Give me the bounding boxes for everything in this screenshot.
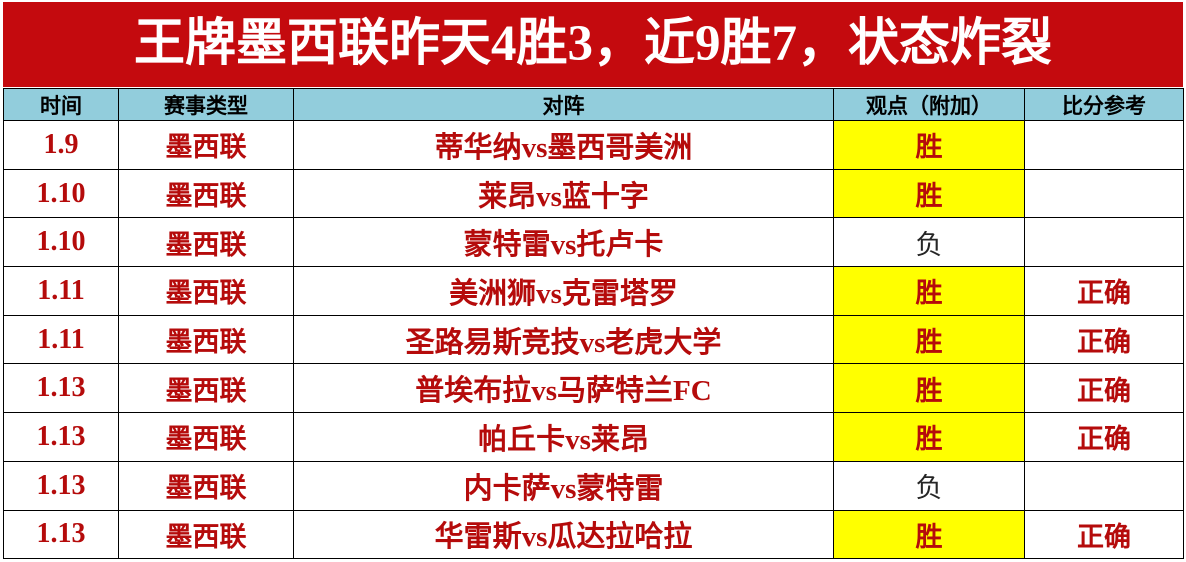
table-header-row: 时间 赛事类型 对阵 观点（附加） 比分参考 xyxy=(4,89,1184,121)
cell-league: 墨西联 xyxy=(119,413,294,462)
cell-league: 墨西联 xyxy=(119,461,294,510)
table-row: 1.9墨西联蒂华纳vs墨西哥美洲胜 xyxy=(4,121,1184,170)
cell-league: 墨西联 xyxy=(119,169,294,218)
cell-score: 正确 xyxy=(1025,315,1184,364)
column-header-league: 赛事类型 xyxy=(119,89,294,121)
cell-view: 胜 xyxy=(834,315,1025,364)
cell-view: 胜 xyxy=(834,267,1025,316)
cell-view: 胜 xyxy=(834,510,1025,559)
column-header-match: 对阵 xyxy=(294,89,834,121)
table-body: 1.9墨西联蒂华纳vs墨西哥美洲胜1.10墨西联莱昂vs蓝十字胜1.10墨西联蒙… xyxy=(4,121,1184,559)
cell-league: 墨西联 xyxy=(119,510,294,559)
banner-title: 王牌墨西联昨天4胜3，近9胜7，状态炸裂 xyxy=(134,19,1052,70)
cell-match: 内卡萨vs蒙特雷 xyxy=(294,461,834,510)
cell-match: 美洲狮vs克雷塔罗 xyxy=(294,267,834,316)
table-row: 1.10墨西联蒙特雷vs托卢卡负 xyxy=(4,218,1184,267)
cell-league: 墨西联 xyxy=(119,315,294,364)
column-header-score: 比分参考 xyxy=(1025,89,1184,121)
cell-time: 1.11 xyxy=(4,267,119,316)
cell-score: 正确 xyxy=(1025,364,1184,413)
table-row: 1.11墨西联圣路易斯竞技vs老虎大学胜正确 xyxy=(4,315,1184,364)
prediction-sheet-page: 王牌墨西联昨天4胜3，近9胜7，状态炸裂 时间 赛事类型 对阵 观点（附加） 比… xyxy=(0,0,1186,562)
cell-view: 胜 xyxy=(834,169,1025,218)
cell-league: 墨西联 xyxy=(119,121,294,170)
cell-time: 1.13 xyxy=(4,510,119,559)
cell-match: 华雷斯vs瓜达拉哈拉 xyxy=(294,510,834,559)
cell-league: 墨西联 xyxy=(119,364,294,413)
column-header-time: 时间 xyxy=(4,89,119,121)
cell-time: 1.9 xyxy=(4,121,119,170)
cell-view: 负 xyxy=(834,461,1025,510)
cell-score xyxy=(1025,461,1184,510)
cell-time: 1.13 xyxy=(4,461,119,510)
predictions-table: 时间 赛事类型 对阵 观点（附加） 比分参考 1.9墨西联蒂华纳vs墨西哥美洲胜… xyxy=(3,88,1184,559)
cell-match: 帕丘卡vs莱昂 xyxy=(294,413,834,462)
cell-view: 负 xyxy=(834,218,1025,267)
cell-score xyxy=(1025,218,1184,267)
column-header-view: 观点（附加） xyxy=(834,89,1025,121)
title-banner: 王牌墨西联昨天4胜3，近9胜7，状态炸裂 xyxy=(3,2,1183,87)
cell-match: 蒂华纳vs墨西哥美洲 xyxy=(294,121,834,170)
cell-match: 圣路易斯竞技vs老虎大学 xyxy=(294,315,834,364)
table-row: 1.13墨西联华雷斯vs瓜达拉哈拉胜正确 xyxy=(4,510,1184,559)
cell-score: 正确 xyxy=(1025,510,1184,559)
cell-match: 莱昂vs蓝十字 xyxy=(294,169,834,218)
cell-league: 墨西联 xyxy=(119,218,294,267)
cell-score: 正确 xyxy=(1025,413,1184,462)
cell-score xyxy=(1025,169,1184,218)
cell-match: 蒙特雷vs托卢卡 xyxy=(294,218,834,267)
cell-match: 普埃布拉vs马萨特兰FC xyxy=(294,364,834,413)
cell-view: 胜 xyxy=(834,364,1025,413)
cell-score: 正确 xyxy=(1025,267,1184,316)
cell-time: 1.11 xyxy=(4,315,119,364)
cell-time: 1.13 xyxy=(4,364,119,413)
table-row: 1.13墨西联普埃布拉vs马萨特兰FC胜正确 xyxy=(4,364,1184,413)
cell-view: 胜 xyxy=(834,121,1025,170)
cell-view: 胜 xyxy=(834,413,1025,462)
table-row: 1.11墨西联美洲狮vs克雷塔罗胜正确 xyxy=(4,267,1184,316)
table-row: 1.13墨西联帕丘卡vs莱昂胜正确 xyxy=(4,413,1184,462)
cell-score xyxy=(1025,121,1184,170)
cell-time: 1.10 xyxy=(4,218,119,267)
cell-league: 墨西联 xyxy=(119,267,294,316)
table-row: 1.10墨西联莱昂vs蓝十字胜 xyxy=(4,169,1184,218)
cell-time: 1.10 xyxy=(4,169,119,218)
cell-time: 1.13 xyxy=(4,413,119,462)
table-row: 1.13墨西联内卡萨vs蒙特雷负 xyxy=(4,461,1184,510)
